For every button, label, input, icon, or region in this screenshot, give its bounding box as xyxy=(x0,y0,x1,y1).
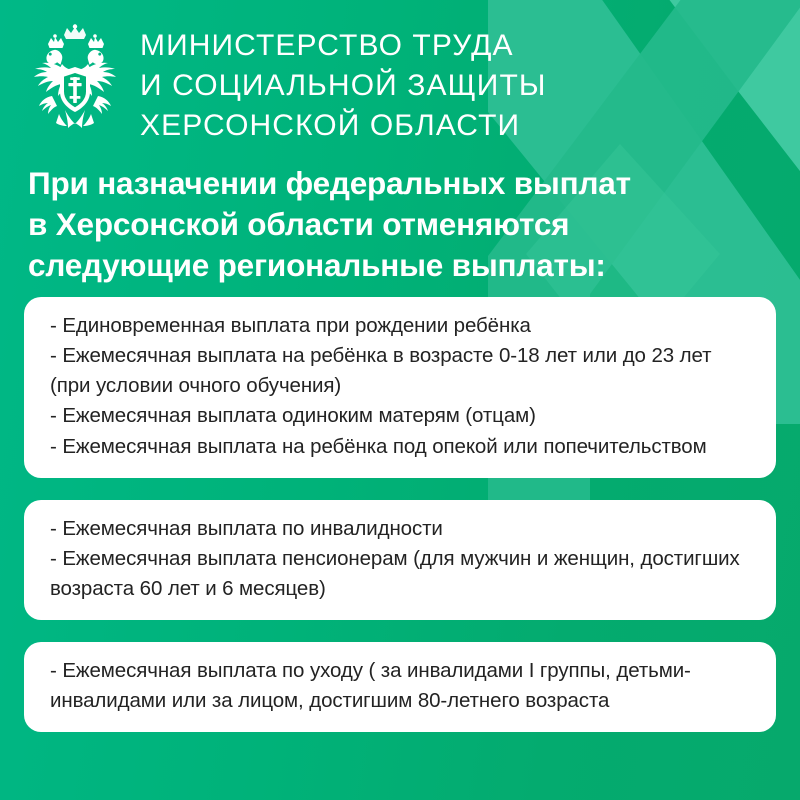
headline-text: При назначении федеральных выплат в Херс… xyxy=(28,163,763,286)
list-item: - Ежемесячная выплата по инвалидности xyxy=(50,514,750,544)
list-item: - Ежемесячная выплата одиноким матерям (… xyxy=(50,401,750,431)
list-item: - Ежемесячная выплата на ребёнка в возра… xyxy=(50,341,750,401)
list-item: - Единовременная выплата при рождении ре… xyxy=(50,311,750,341)
poster-canvas: МИНИСТЕРСТВО ТРУДА И СОЦИАЛЬНОЙ ЗАЩИТЫ Х… xyxy=(0,0,800,800)
list-item: - Ежемесячная выплата на ребёнка под опе… xyxy=(50,432,750,462)
list-item: - Ежемесячная выплата пенсионерам (для м… xyxy=(50,544,750,604)
russian-eagle-emblem-icon xyxy=(32,24,118,136)
card-disability-pension-payments: - Ежемесячная выплата по инвалидности - … xyxy=(24,500,776,620)
poster-header: МИНИСТЕРСТВО ТРУДА И СОЦИАЛЬНОЙ ЗАЩИТЫ Х… xyxy=(32,22,776,146)
list-item: - Ежемесячная выплата по уходу ( за инва… xyxy=(50,656,750,716)
ministry-name: МИНИСТЕРСТВО ТРУДА И СОЦИАЛЬНОЙ ЗАЩИТЫ Х… xyxy=(140,26,547,146)
card-care-payments: - Ежемесячная выплата по уходу ( за инва… xyxy=(24,642,776,732)
payments-card-list: - Единовременная выплата при рождении ре… xyxy=(24,297,776,732)
card-family-payments: - Единовременная выплата при рождении ре… xyxy=(24,297,776,478)
